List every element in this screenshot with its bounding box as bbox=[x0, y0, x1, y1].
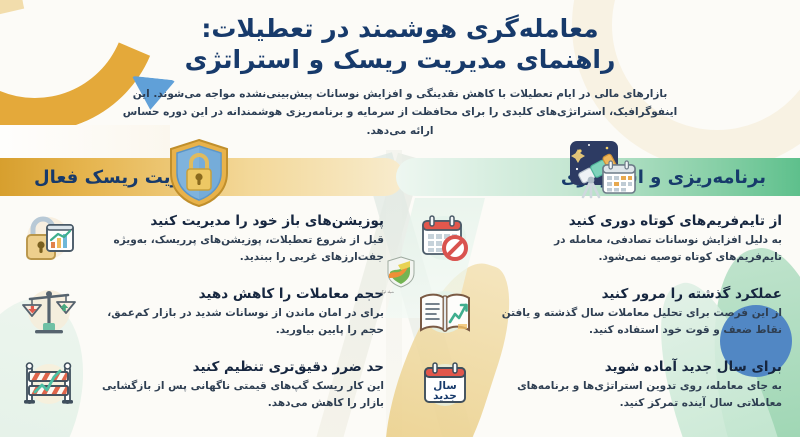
new-year-calendar-line-2: جدید bbox=[433, 390, 457, 402]
list-item: پوزیشن‌های باز خود را مدیریت کنید قبل از… bbox=[20, 210, 384, 272]
list-item: از تایم‌فریم‌های کوتاه دوری کنید به دلیل… bbox=[416, 210, 782, 272]
title-line-1: معامله‌گری هوشمند در تعطیلات: bbox=[24, 14, 776, 45]
header: معامله‌گری هوشمند در تعطیلات: راهنمای مد… bbox=[0, 0, 800, 140]
list-item-body: عملکرد گذشته را مرور کنید از این فرصت بر… bbox=[484, 283, 782, 339]
watermark-caption: شیلد لوگو bbox=[380, 290, 394, 294]
list-item-title: حد ضرر دقیق‌تری تنظیم کنید bbox=[88, 358, 384, 376]
list-item-description: قبل از شروع تعطیلات، پوزیشن‌های پرریسک، … bbox=[88, 232, 384, 266]
new-year-calendar-icon: سال جدید bbox=[416, 356, 474, 412]
balance-scale-icon bbox=[20, 283, 78, 339]
open-book-chart-icon bbox=[416, 283, 474, 339]
title-line-2: راهنمای مدیریت ریسک و استراتژی bbox=[24, 45, 776, 76]
content-columns: از تایم‌فریم‌های کوتاه دوری کنید به دلیل… bbox=[0, 210, 800, 429]
column-planning-strategy: از تایم‌فریم‌های کوتاه دوری کنید به دلیل… bbox=[400, 210, 800, 429]
banner-planning-strategy: برنامه‌ریزی و استراتژی bbox=[396, 158, 800, 196]
watermark-shield-logo: شیلد لوگو bbox=[386, 256, 416, 290]
list-item-description: به دلیل افزایش نوسانات تصادفی، معامله در… bbox=[484, 232, 782, 266]
infographic-canvas: معامله‌گری هوشمند در تعطیلات: راهنمای مد… bbox=[0, 0, 800, 437]
list-item-body: از تایم‌فریم‌های کوتاه دوری کنید به دلیل… bbox=[484, 210, 782, 266]
calendar-prohibited-icon bbox=[416, 210, 474, 266]
shield-lock-icon bbox=[162, 136, 236, 210]
list-item: عملکرد گذشته را مرور کنید از این فرصت بر… bbox=[416, 283, 782, 345]
list-item-description: به جای معامله، روی تدوین استراتژی‌ها و ب… bbox=[484, 378, 782, 412]
banner-risk-management: مدیریت ریسک فعال bbox=[0, 158, 404, 196]
list-item-body: پوزیشن‌های باز خود را مدیریت کنید قبل از… bbox=[88, 210, 384, 266]
list-item: سال جدید برای سال جدید آماده شوید به جای… bbox=[416, 356, 782, 418]
telescope-calendar-icon bbox=[564, 136, 638, 210]
barrier-chart-icon bbox=[20, 356, 78, 412]
list-item: حجم معاملات را کاهش دهید برای در امان ما… bbox=[20, 283, 384, 345]
column-risk-management: پوزیشن‌های باز خود را مدیریت کنید قبل از… bbox=[0, 210, 400, 429]
list-item-body: حجم معاملات را کاهش دهید برای در امان ما… bbox=[88, 283, 384, 339]
page-subtitle: بازارهای مالی در ایام تعطیلات با کاهش نق… bbox=[118, 85, 683, 140]
padlock-chart-icon bbox=[20, 210, 78, 266]
list-item: حد ضرر دقیق‌تری تنظیم کنید این کار ریسک … bbox=[20, 356, 384, 418]
page-title: معامله‌گری هوشمند در تعطیلات: راهنمای مد… bbox=[24, 14, 776, 75]
list-item-title: حجم معاملات را کاهش دهید bbox=[88, 285, 384, 303]
list-item-body: برای سال جدید آماده شوید به جای معامله، … bbox=[484, 356, 782, 412]
section-banners: مدیریت ریسک فعال برنامه‌ریزی و استراتژی bbox=[0, 158, 800, 204]
list-item-title: پوزیشن‌های باز خود را مدیریت کنید bbox=[88, 212, 384, 230]
list-item-title: عملکرد گذشته را مرور کنید bbox=[484, 285, 782, 303]
list-item-description: از این فرصت برای تحلیل معاملات سال گذشته… bbox=[484, 305, 782, 339]
list-item-description: برای در امان ماندن از نوسانات شدید در با… bbox=[88, 305, 384, 339]
list-item-title: برای سال جدید آماده شوید bbox=[484, 358, 782, 376]
list-item-title: از تایم‌فریم‌های کوتاه دوری کنید bbox=[484, 212, 782, 230]
list-item-body: حد ضرر دقیق‌تری تنظیم کنید این کار ریسک … bbox=[88, 356, 384, 412]
list-item-description: این کار ریسک گپ‌های قیمتی ناگهانی پس از … bbox=[88, 378, 384, 412]
